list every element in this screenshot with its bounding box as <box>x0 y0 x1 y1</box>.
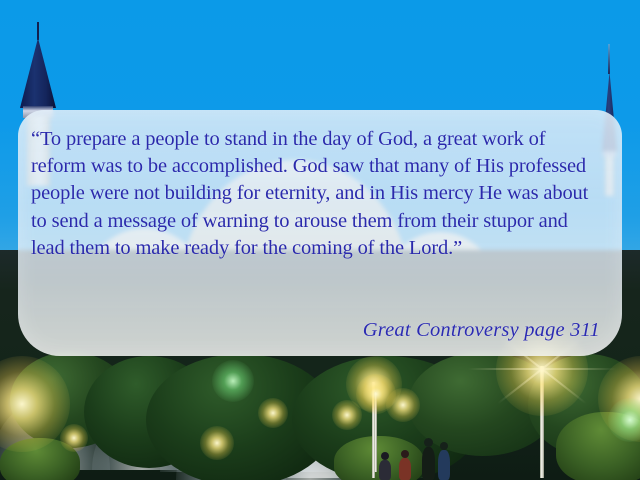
quote-attribution: Great Controversy page 311 <box>363 319 600 342</box>
minaret-finial <box>37 22 39 40</box>
quote-text: “To prepare a people to stand in the day… <box>31 126 600 262</box>
quote-card: “To prepare a people to stand in the day… <box>18 110 622 356</box>
lamp-glow <box>60 424 88 452</box>
visitor-silhouette <box>436 442 452 480</box>
minaret-finial <box>608 44 610 74</box>
minaret-cap <box>20 38 56 108</box>
visitor-silhouette <box>378 452 392 480</box>
lamp-glow <box>258 398 288 428</box>
visitor-silhouette <box>398 450 412 480</box>
quote-slide: “To prepare a people to stand in the day… <box>0 0 640 480</box>
lamp-glow <box>200 426 234 460</box>
lamp-glow <box>212 360 254 402</box>
visitor-silhouette <box>420 438 436 480</box>
lamp-glow <box>386 388 420 422</box>
lamp-glow <box>332 400 362 430</box>
